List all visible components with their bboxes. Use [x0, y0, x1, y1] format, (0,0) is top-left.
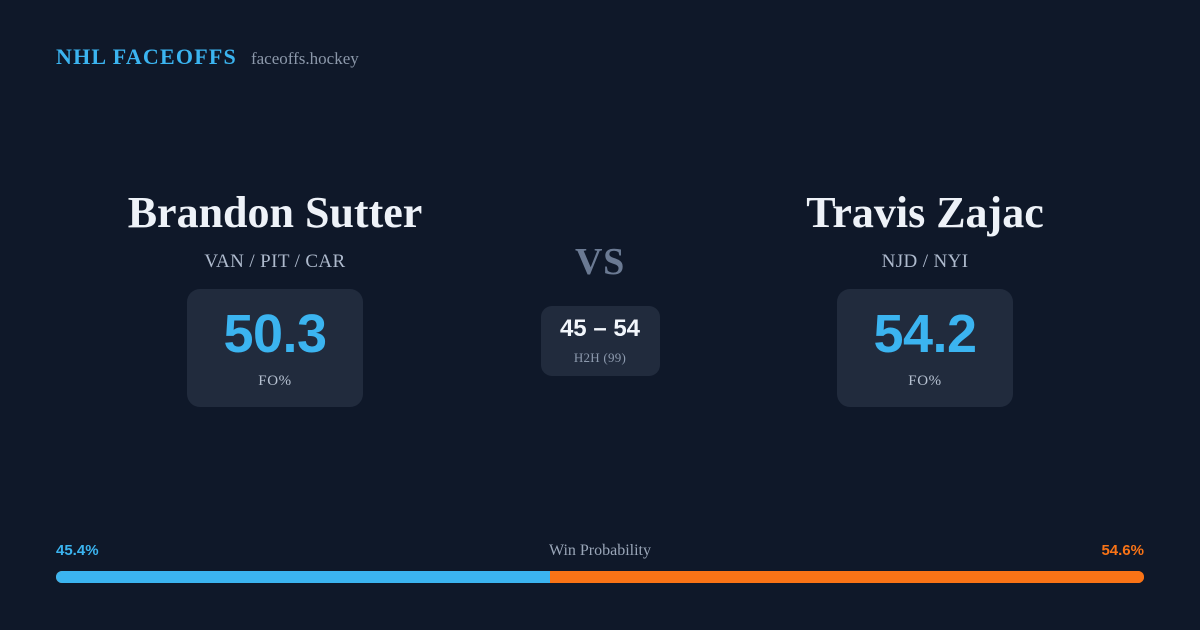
win-probability-labels: 45.4% Win Probability 54.6%: [56, 542, 1144, 560]
win-probability-right-value: 54.6%: [1101, 542, 1144, 559]
site-domain: faceoffs.hockey: [251, 50, 359, 67]
player-name-right: Travis Zajac: [806, 190, 1044, 236]
win-probability-section: 45.4% Win Probability 54.6%: [56, 542, 1144, 583]
win-probability-bar: [56, 571, 1144, 583]
win-probability-bar-left-fill: [56, 571, 550, 583]
win-probability-bar-right-fill: [550, 571, 1144, 583]
stat-label-left: FO%: [258, 373, 291, 390]
player-teams-right: NJD / NYI: [882, 251, 969, 273]
head-to-head-label: H2H (99): [574, 350, 626, 366]
win-probability-left-value: 45.4%: [56, 542, 99, 559]
versus-label: VS: [575, 243, 625, 281]
player-card-right: Travis Zajac NJD / NYI 54.2 FO%: [690, 190, 1160, 407]
stat-value-right: 54.2: [874, 307, 977, 361]
brand-title: NHL FACEOFFS: [56, 46, 237, 68]
stat-card-faceoff-left: 50.3 FO%: [187, 289, 363, 407]
versus-column: VS 45 – 54 H2H (99): [510, 190, 690, 376]
head-to-head-score: 45 – 54: [560, 317, 640, 341]
site-header: NHL FACEOFFS faceoffs.hockey: [56, 46, 359, 68]
player-teams-left: VAN / PIT / CAR: [204, 251, 345, 273]
player-name-left: Brandon Sutter: [128, 190, 423, 236]
win-probability-title: Win Probability: [549, 542, 651, 560]
player-card-left: Brandon Sutter VAN / PIT / CAR 50.3 FO%: [40, 190, 510, 407]
stat-card-faceoff-right: 54.2 FO%: [837, 289, 1013, 407]
matchup-section: Brandon Sutter VAN / PIT / CAR 50.3 FO% …: [0, 190, 1200, 407]
head-to-head-box: 45 – 54 H2H (99): [541, 306, 660, 376]
stat-label-right: FO%: [908, 373, 941, 390]
stat-value-left: 50.3: [224, 307, 327, 361]
